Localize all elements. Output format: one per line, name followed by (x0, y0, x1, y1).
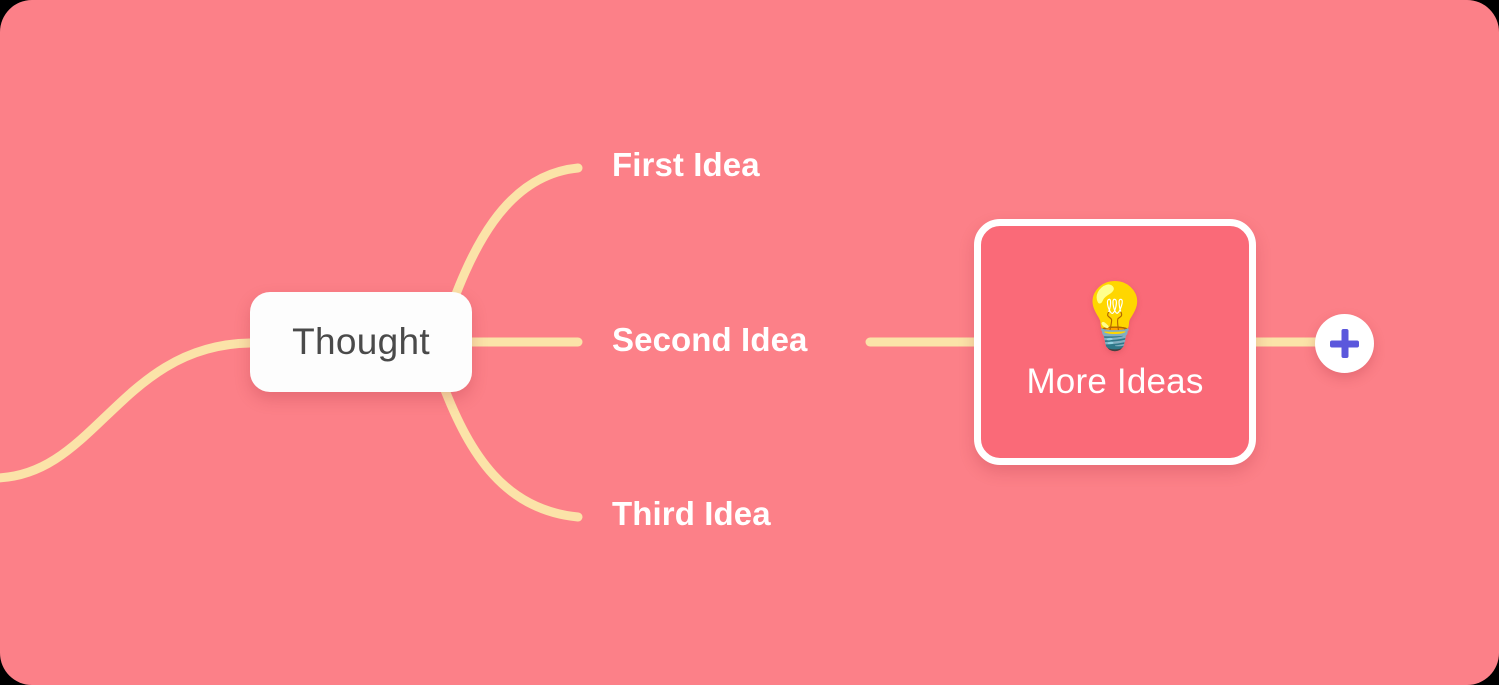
thought-node[interactable]: Thought (250, 292, 472, 392)
branch-label-second-idea[interactable]: Second Idea (612, 321, 808, 359)
more-ideas-node[interactable]: 💡 More Ideas (974, 219, 1256, 465)
more-ideas-node-label: More Ideas (1026, 362, 1203, 402)
connector-incoming (0, 343, 250, 478)
connector-thought-third (443, 385, 578, 517)
add-node-button[interactable] (1315, 314, 1374, 373)
mindmap-canvas[interactable]: Thought First Idea Second Idea Third Ide… (0, 0, 1499, 685)
branch-label-first-idea[interactable]: First Idea (612, 146, 760, 184)
branch-label-third-idea[interactable]: Third Idea (612, 495, 771, 533)
thought-node-label: Thought (292, 321, 430, 363)
plus-icon (1330, 329, 1359, 358)
lightbulb-icon: 💡 (1075, 284, 1155, 348)
